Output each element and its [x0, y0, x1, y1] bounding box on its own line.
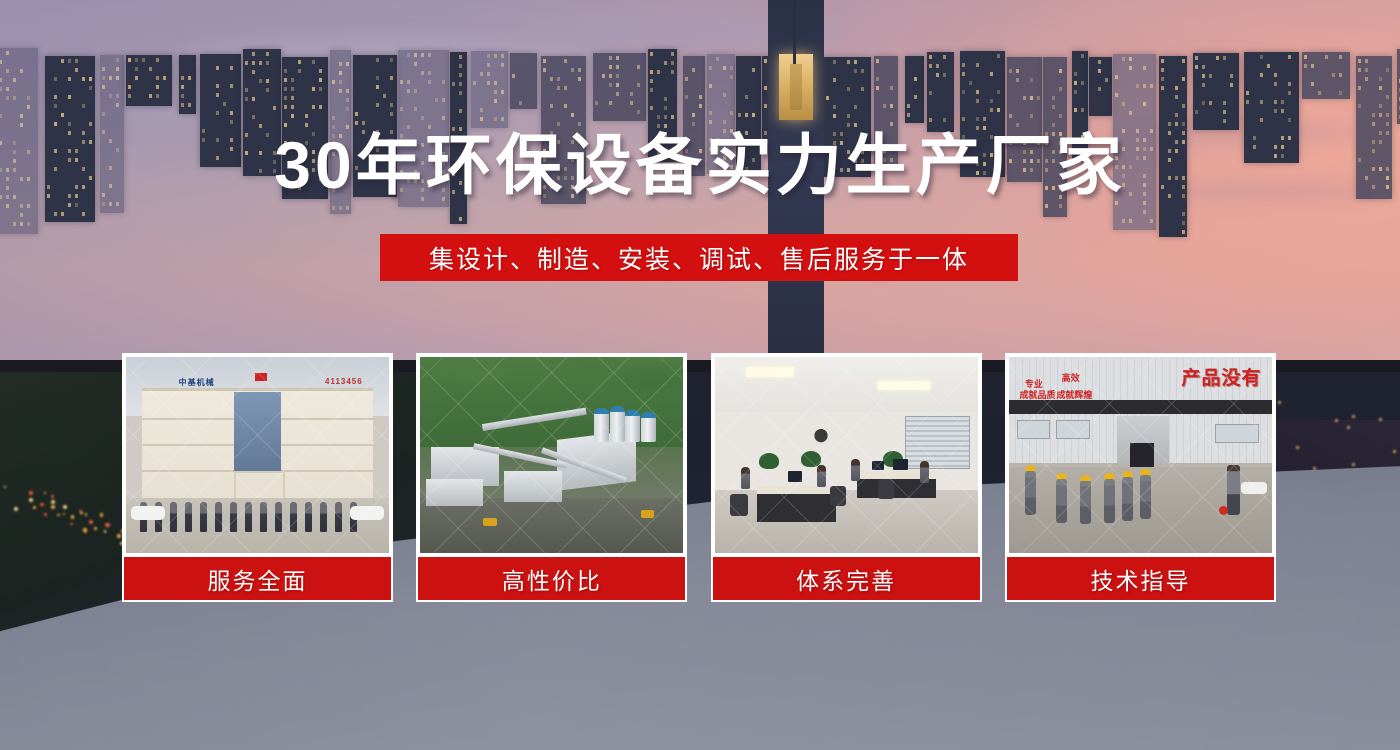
wall-logo-icon	[804, 422, 838, 444]
ceiling-light	[878, 381, 931, 391]
monitor	[893, 459, 908, 470]
building	[179, 55, 196, 114]
office-chair	[730, 494, 748, 516]
staff-member	[260, 502, 267, 532]
building	[927, 52, 954, 132]
building	[471, 51, 508, 128]
parked-car	[131, 506, 165, 520]
worker	[1080, 480, 1091, 524]
hard-hat	[1080, 475, 1091, 481]
factory-window	[1215, 424, 1259, 444]
subtitle-text: 集设计、制造、安装、调试、售后服务于一体	[429, 240, 969, 276]
office-staff	[851, 459, 860, 481]
parked-car	[350, 506, 384, 520]
hard-hat	[1122, 471, 1133, 477]
building-sign-text: 中基机械	[179, 377, 215, 388]
building	[510, 53, 537, 109]
card-photo-headquarters: 中基机械 4113456	[122, 353, 393, 557]
silo-cap	[641, 412, 656, 418]
card-caption-bar: 高性价比	[416, 557, 687, 602]
plant-yard	[420, 498, 683, 553]
staff-member	[170, 502, 177, 532]
building	[126, 55, 172, 106]
tower-spire	[793, 0, 796, 64]
building	[1193, 53, 1239, 130]
feature-card[interactable]: 体系完善	[711, 353, 982, 603]
staff-member	[305, 502, 312, 532]
excavator	[641, 510, 654, 518]
card-photo-plant	[416, 353, 687, 557]
building	[905, 56, 924, 123]
wall-window-band	[1009, 400, 1272, 414]
tower-upper-shaft	[790, 64, 802, 110]
excavator	[483, 518, 497, 526]
office-staff	[741, 467, 750, 489]
worker	[1140, 475, 1151, 519]
card-caption-bar: 体系完善	[711, 557, 982, 602]
worker	[1122, 477, 1133, 521]
card-caption-text: 服务全面	[208, 562, 308, 596]
page-title: 30年环保设备实力生产厂家	[0, 132, 1400, 198]
office-staff	[817, 465, 826, 487]
hard-hat	[1104, 473, 1115, 479]
plant-building	[504, 471, 562, 502]
office-chair	[830, 486, 846, 506]
staff-member	[245, 502, 252, 532]
building	[1089, 57, 1112, 116]
feature-card[interactable]: 高性价比	[416, 353, 687, 603]
card-caption-text: 体系完善	[796, 562, 896, 596]
building	[1302, 52, 1350, 99]
feature-card-list: 中基机械 4113456 服务全面	[122, 353, 1276, 603]
staff-member	[200, 502, 207, 532]
staff-member	[335, 502, 342, 532]
silo-cap	[625, 410, 640, 416]
office-floor	[715, 490, 978, 553]
wall-slogan-main: 产品没有	[1181, 363, 1261, 390]
office-chair	[878, 479, 894, 499]
worker	[1104, 479, 1115, 523]
office-staff	[920, 461, 929, 483]
staff-member	[215, 502, 222, 532]
flag	[255, 373, 267, 381]
factory-window	[1056, 420, 1090, 440]
feature-card[interactable]: 产品没有 专业 高效 成就辉煌 成就品质 技术指导	[1005, 353, 1276, 603]
feature-card[interactable]: 中基机械 4113456 服务全面	[122, 353, 393, 603]
card-caption-bar: 服务全面	[122, 557, 393, 602]
promo-banner: 30年环保设备实力生产厂家 集设计、制造、安装、调试、售后服务于一体 中基机械 …	[0, 0, 1400, 750]
staff-member	[290, 502, 297, 532]
staff-member	[230, 502, 237, 532]
potted-plant	[759, 453, 779, 469]
hard-hat	[1025, 465, 1036, 471]
wall-slogan-2: 高效	[1062, 371, 1080, 384]
supervisor	[1227, 465, 1240, 515]
card-caption-text: 技术指导	[1090, 562, 1190, 596]
staff-member	[185, 502, 192, 532]
desk	[757, 490, 836, 521]
subtitle-bar: 集设计、制造、安装、调试、售后服务于一体	[380, 234, 1018, 281]
worker	[1025, 471, 1036, 515]
card-photo-office	[711, 353, 982, 557]
ceiling-light	[746, 367, 793, 377]
monitor	[872, 461, 884, 470]
building-phone-text: 4113456	[325, 377, 363, 386]
building	[593, 53, 646, 121]
staff-member	[320, 502, 327, 532]
card-photo-workers: 产品没有 专业 高效 成就辉煌 成就品质	[1005, 353, 1276, 557]
monitor	[788, 471, 802, 482]
card-caption-bar: 技术指导	[1005, 557, 1276, 602]
staff-member	[275, 502, 282, 532]
window-blinds	[905, 416, 970, 469]
silo-cap	[594, 408, 609, 414]
desk-top	[757, 486, 836, 494]
factory-window	[1017, 420, 1051, 440]
card-caption-text: 高性价比	[502, 562, 602, 596]
silo-cap	[610, 406, 625, 412]
parked-car	[1241, 482, 1267, 494]
worker	[1056, 479, 1067, 523]
plant-building	[426, 479, 484, 506]
